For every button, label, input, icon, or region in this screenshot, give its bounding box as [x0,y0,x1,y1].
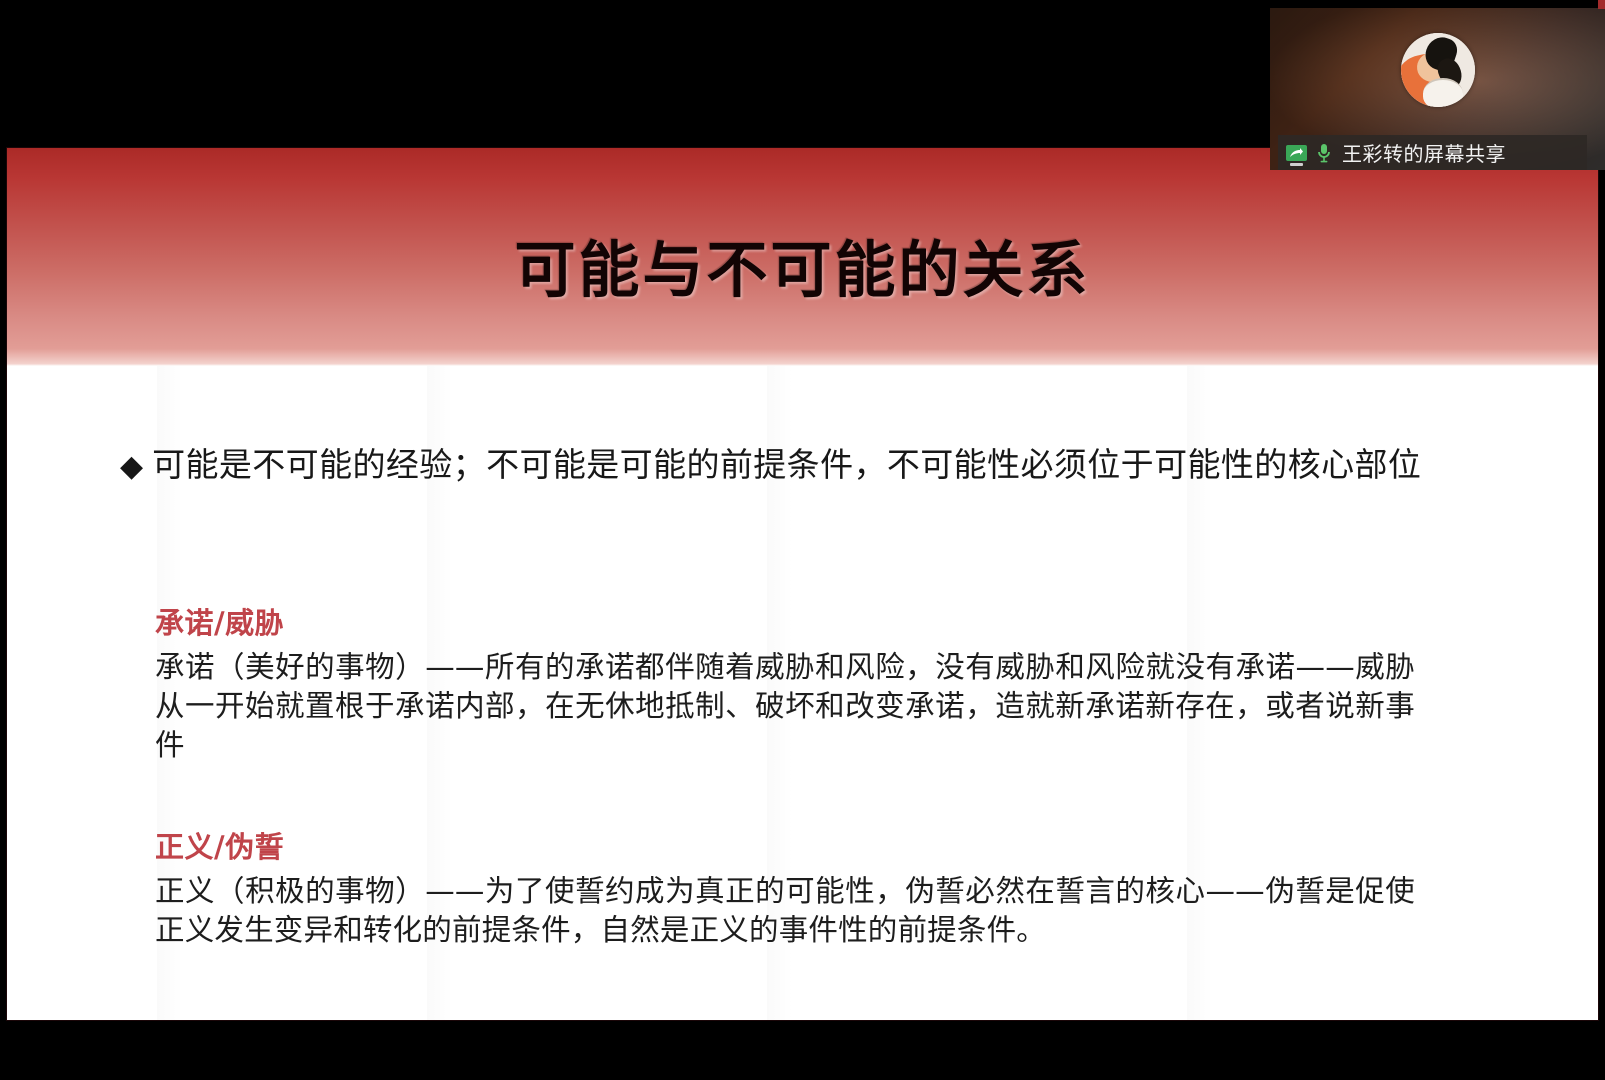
screen-share-status-bar: 王彩转的屏幕共享 [1278,135,1587,170]
bullet-item: ◆ 可能是不可能的经验；不可能是可能的前提条件，不可能性必须位于可能性的核心部位 [120,446,1520,485]
section-promise-threat: 承诺/威胁 承诺（美好的事物）——所有的承诺都伴随着威胁和风险，没有威胁和风险就… [155,600,1415,766]
presenter-video-thumbnail[interactable]: 王彩转的屏幕共享 [1270,8,1605,170]
microphone-icon [1316,143,1332,163]
avatar [1401,33,1475,107]
corner-accent [1598,0,1605,9]
presentation-slide: 可能与不可能的关系 ◆ 可能是不可能的经验；不可能是可能的前提条件，不可能性必须… [7,148,1598,1020]
section-heading: 正义/伪誓 [155,824,1415,866]
screen-share-label: 王彩转的屏幕共享 [1342,138,1506,167]
section-body-text: 正义（积极的事物）——为了使誓约成为真正的可能性，伪誓必然在誓言的核心——伪誓是… [155,872,1415,950]
section-justice-perjury: 正义/伪誓 正义（积极的事物）——为了使誓约成为真正的可能性，伪誓必然在誓言的核… [155,824,1415,950]
screen-share-view: 可能与不可能的关系 ◆ 可能是不可能的经验；不可能是可能的前提条件，不可能性必须… [0,0,1605,1080]
bullet-item-text: 可能是不可能的经验；不可能是可能的前提条件，不可能性必须位于可能性的核心部位 [152,446,1421,485]
slide-title-banner: 可能与不可能的关系 [7,148,1598,366]
slide-content-area: ◆ 可能是不可能的经验；不可能是可能的前提条件，不可能性必须位于可能性的核心部位… [7,366,1598,1020]
diamond-bullet-icon: ◆ [120,452,143,482]
page-title: 可能与不可能的关系 [7,220,1598,309]
screen-share-icon [1286,145,1307,161]
section-body-text: 承诺（美好的事物）——所有的承诺都伴随着威胁和风险，没有威胁和风险就没有承诺——… [155,648,1415,766]
section-heading: 承诺/威胁 [155,600,1415,642]
